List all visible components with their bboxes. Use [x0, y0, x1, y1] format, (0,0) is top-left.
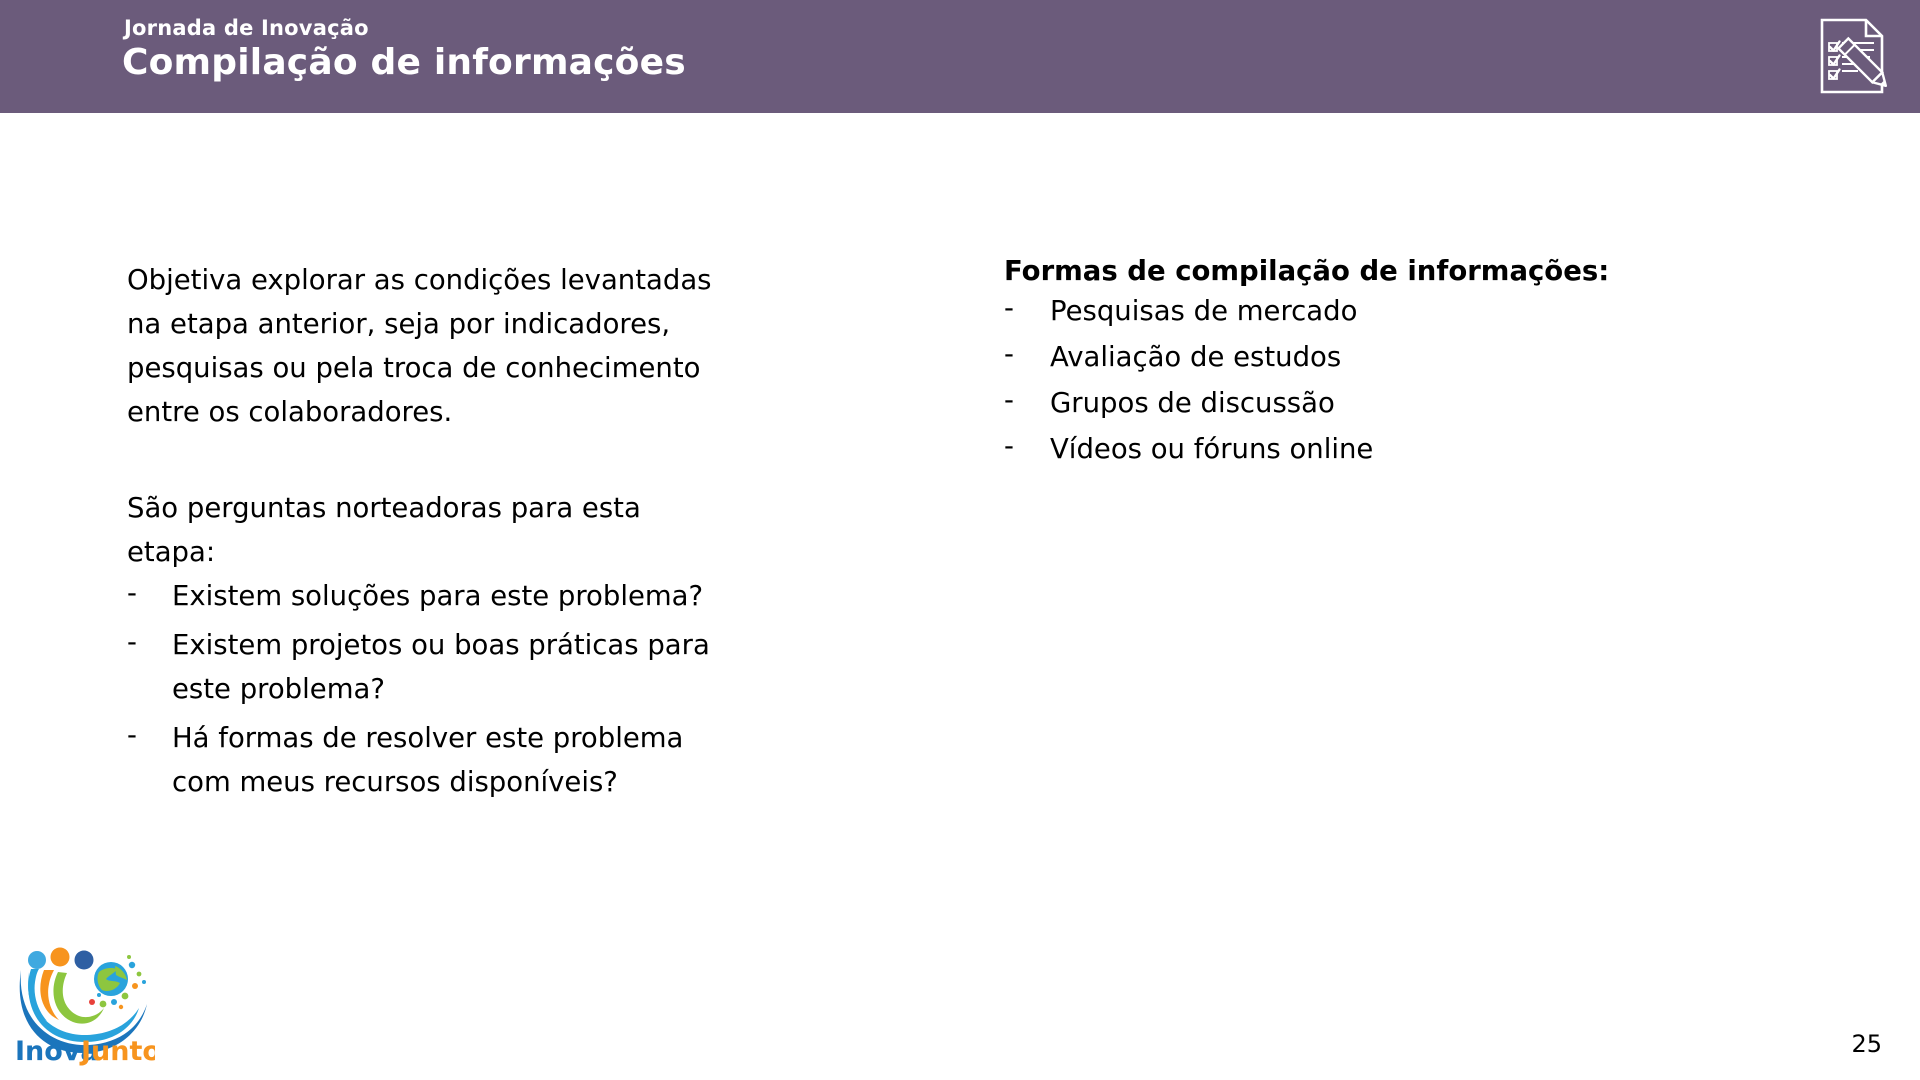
dash-bullet-icon: -: [1004, 332, 1014, 376]
dash-bullet-icon: -: [127, 713, 137, 757]
list-item-label: Existem soluções para este problema?: [172, 574, 727, 618]
questions-lead-text: São perguntas norteadoras para esta etap…: [127, 486, 727, 574]
dash-bullet-icon: -: [1004, 286, 1014, 330]
list-item: - Há formas de resolver este problema co…: [127, 716, 727, 804]
questions-list: - Existem soluções para este problema? -…: [127, 574, 727, 804]
list-item-label: Avaliação de estudos: [1050, 335, 1704, 379]
right-column: Formas de compilação de informações: - P…: [1004, 253, 1704, 473]
checklist-pencil-icon: [1808, 12, 1896, 100]
intro-paragraph: Objetiva explorar as condições levantada…: [127, 258, 727, 434]
list-item: - Existem soluções para este problema?: [127, 574, 727, 618]
dash-bullet-icon: -: [127, 571, 137, 615]
page-number: 25: [1851, 1030, 1882, 1058]
dash-bullet-icon: -: [127, 620, 137, 664]
list-item-label: Pesquisas de mercado: [1050, 289, 1704, 333]
slide-header: Jornada de Inovação Compilação de inform…: [0, 0, 1920, 113]
inovajuntos-logo: Inova Juntos: [11, 932, 155, 1067]
right-column-heading: Formas de compilação de informações:: [1004, 253, 1704, 289]
list-item: - Vídeos ou fóruns online: [1004, 427, 1704, 471]
dash-bullet-icon: -: [1004, 424, 1014, 468]
left-column: Objetiva explorar as condições levantada…: [127, 258, 727, 809]
list-item-label: Grupos de discussão: [1050, 381, 1704, 425]
list-item: - Avaliação de estudos: [1004, 335, 1704, 379]
list-item: - Pesquisas de mercado: [1004, 289, 1704, 333]
header-eyebrow: Jornada de Inovação: [124, 16, 369, 40]
list-item-label: Há formas de resolver este problema com …: [172, 716, 727, 804]
list-item-label: Vídeos ou fóruns online: [1050, 427, 1704, 471]
list-item-label: Existem projetos ou boas práticas para e…: [172, 623, 727, 711]
list-item: - Existem projetos ou boas práticas para…: [127, 623, 727, 711]
slide-canvas: Jornada de Inovação Compilação de inform…: [0, 0, 1920, 1080]
list-item: - Grupos de discussão: [1004, 381, 1704, 425]
paragraph-spacer: [127, 434, 727, 486]
slide-body: Objetiva explorar as condições levantada…: [0, 113, 1920, 1080]
page-title: Compilação de informações: [122, 42, 686, 83]
dash-bullet-icon: -: [1004, 378, 1014, 422]
logo-text-part-2: Juntos: [79, 1036, 155, 1067]
compilation-methods-list: - Pesquisas de mercado - Avaliação de es…: [1004, 289, 1704, 471]
